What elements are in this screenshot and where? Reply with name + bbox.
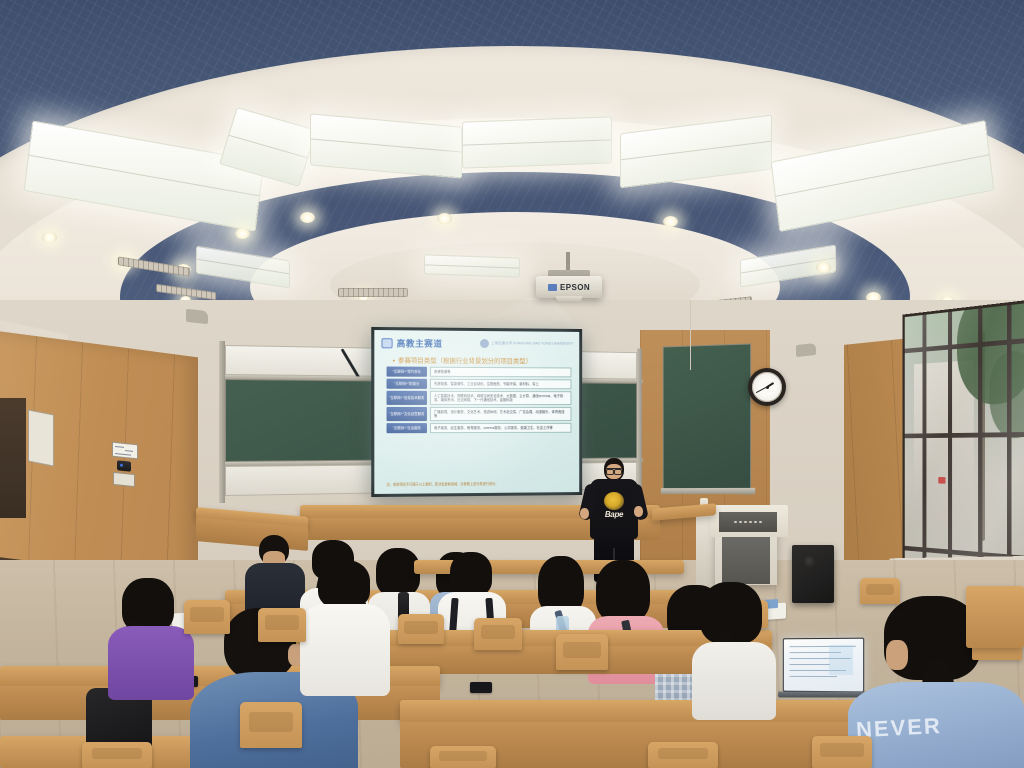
downlight: [235, 228, 250, 239]
presenter-right-hand: [634, 506, 643, 517]
slide-table: "互联网+"现代农业农林牧渔等"互联网+"制造业先进制造、智能硬件、工业自动化、…: [387, 367, 572, 434]
chair[interactable]: [398, 614, 444, 644]
slide-row-content: 农林牧渔等: [430, 367, 571, 378]
floor-speaker: [792, 545, 834, 603]
lectern-button[interactable]: [744, 521, 747, 524]
chair[interactable]: [648, 742, 718, 768]
chair[interactable]: [82, 742, 152, 768]
shirt-brand-text: Bape: [599, 510, 629, 519]
window-mullion: [1007, 305, 1012, 595]
lectern-control-panel[interactable]: [719, 512, 777, 532]
board-side-rail: [637, 349, 642, 496]
chalkboard-right-section: [663, 343, 751, 494]
lecture-hall-photo: EPSON 高教主赛道 上海交通大学 SHANGHAI JIAO TONG UN…: [0, 0, 1024, 768]
board-side-rail: [219, 341, 225, 503]
downlight: [663, 216, 678, 227]
wall-label: [113, 472, 135, 487]
slide-table-row: "互联网+"信息技术服务人工智能技术、物联网技术、网络空间安全技术、大数据、云计…: [387, 391, 572, 406]
card-reader-icon[interactable]: [117, 460, 131, 471]
chair[interactable]: [556, 634, 608, 670]
slide-row-content: 人工智能技术、物联网技术、网络空间安全技术、大数据、云计算、通信terminal…: [430, 391, 571, 406]
slide-footnote: 注：参赛项目不只限于以上类别，若涉及其他领域，请参照上述分类进行划分。: [387, 481, 572, 487]
lectern-button[interactable]: [759, 521, 762, 524]
clock-center-pin: [766, 386, 769, 389]
wall-clock: [748, 368, 786, 406]
chair[interactable]: [474, 618, 522, 650]
chair[interactable]: [258, 608, 306, 642]
smartphone[interactable]: [470, 682, 492, 693]
slide-row-category: "互联网+"现代农业: [387, 367, 427, 378]
slide-row-content: 先进制造、智能硬件、工业自动化、生物医药、节能环保、新材料、军工: [430, 379, 571, 390]
slide-bullet: 参赛项目类型（根据行业背景划分的项目类型）: [393, 355, 532, 365]
chair[interactable]: [812, 736, 872, 768]
downlight: [42, 232, 57, 243]
slide-row-content: 电子政务、民生服务、教育服务、careers服务、公共服务、健康卫生、社会工作等: [430, 423, 571, 434]
glasses-icon: [606, 468, 622, 472]
lectern-button[interactable]: [734, 521, 737, 524]
laptop-keyboard[interactable]: [778, 692, 869, 698]
slide-row-category: "互联网+"制造业: [387, 379, 427, 389]
wall-notice-plate: [28, 409, 54, 466]
slide-title: 高教主赛道: [397, 337, 443, 349]
slide-title-icon: [381, 338, 392, 348]
slide-table-row: "互联网+"现代农业农林牧渔等: [387, 367, 572, 378]
university-logo-mark: [480, 339, 489, 348]
laptop-screen[interactable]: [783, 638, 864, 693]
slide-table-row: "互联网+"社会服务电子政务、民生服务、教育服务、careers服务、公共服务、…: [387, 423, 572, 434]
epson-logo-icon: [548, 284, 557, 291]
lectern-button[interactable]: [749, 521, 752, 524]
projection-screen: 高教主赛道 上海交通大学 SHANGHAI JIAO TONG UNIVERSI…: [371, 327, 582, 497]
student-torso: [300, 604, 390, 696]
slide-row-category: "互联网+"文化创意服务: [387, 407, 427, 422]
student-hair: [450, 552, 492, 596]
shirt-graphic: [604, 492, 624, 510]
chair[interactable]: [184, 600, 230, 634]
wall-sign: [112, 442, 138, 460]
presentation-slide: 高教主赛道 上海交通大学 SHANGHAI JIAO TONG UNIVERSI…: [374, 330, 579, 494]
hanging-cable: [690, 300, 691, 370]
student-hair: [596, 560, 650, 622]
speaker-cone: [802, 554, 816, 568]
lectern-button[interactable]: [739, 521, 742, 524]
exterior-sign: [938, 477, 945, 484]
chalk-rail: [661, 488, 755, 494]
projector-lens: [556, 296, 582, 303]
lectern-button[interactable]: [754, 521, 757, 524]
downlight: [437, 213, 452, 224]
slide-row-content: 广播影视、设计服务、文化艺术、旅游休闲、艺术品交易、广告会展、动漫娱乐、体育竞技…: [430, 407, 571, 422]
ceiling-light-panel: [424, 254, 520, 277]
student-ear: [886, 640, 908, 670]
slide-table-row: "互联网+"文化创意服务广播影视、设计服务、文化艺术、旅游休闲、艺术品交易、广告…: [387, 407, 572, 422]
ceiling-vent: [338, 288, 408, 297]
ceiling-projector: EPSON: [536, 276, 602, 298]
university-logo-text: 上海交通大学 SHANGHAI JIAO TONG UNIVERSITY: [491, 342, 574, 347]
security-camera-icon: [796, 343, 816, 357]
window-mullion: [922, 315, 926, 586]
window-mullion: [978, 308, 982, 592]
projector-brand-label: EPSON: [560, 283, 590, 292]
slide-row-category: "互联网+"社会服务: [387, 423, 427, 433]
window-mullion: [948, 312, 952, 589]
chair[interactable]: [860, 578, 900, 604]
window-wall: [902, 300, 1024, 600]
student-torso: [692, 642, 776, 720]
downlight: [816, 262, 831, 273]
ceiling-light-panel: [462, 116, 612, 168]
left-door[interactable]: [0, 398, 26, 518]
security-camera-icon: [186, 309, 208, 324]
slide-header: 高教主赛道: [381, 337, 442, 350]
chair[interactable]: [240, 702, 302, 748]
student-torso: [108, 626, 194, 700]
clock-face: [752, 372, 782, 402]
presenter-left-hand: [580, 508, 589, 519]
downlight: [300, 212, 315, 223]
lectern-front-panel: [722, 536, 770, 584]
slide-table-row: "互联网+"制造业先进制造、智能硬件、工业自动化、生物医药、节能环保、新材料、军…: [387, 379, 572, 390]
slide-row-category: "互联网+"信息技术服务: [387, 391, 427, 406]
university-logo: 上海交通大学 SHANGHAI JIAO TONG UNIVERSITY: [480, 339, 574, 349]
side-cabinet: [966, 586, 1024, 648]
chair[interactable]: [430, 746, 496, 768]
